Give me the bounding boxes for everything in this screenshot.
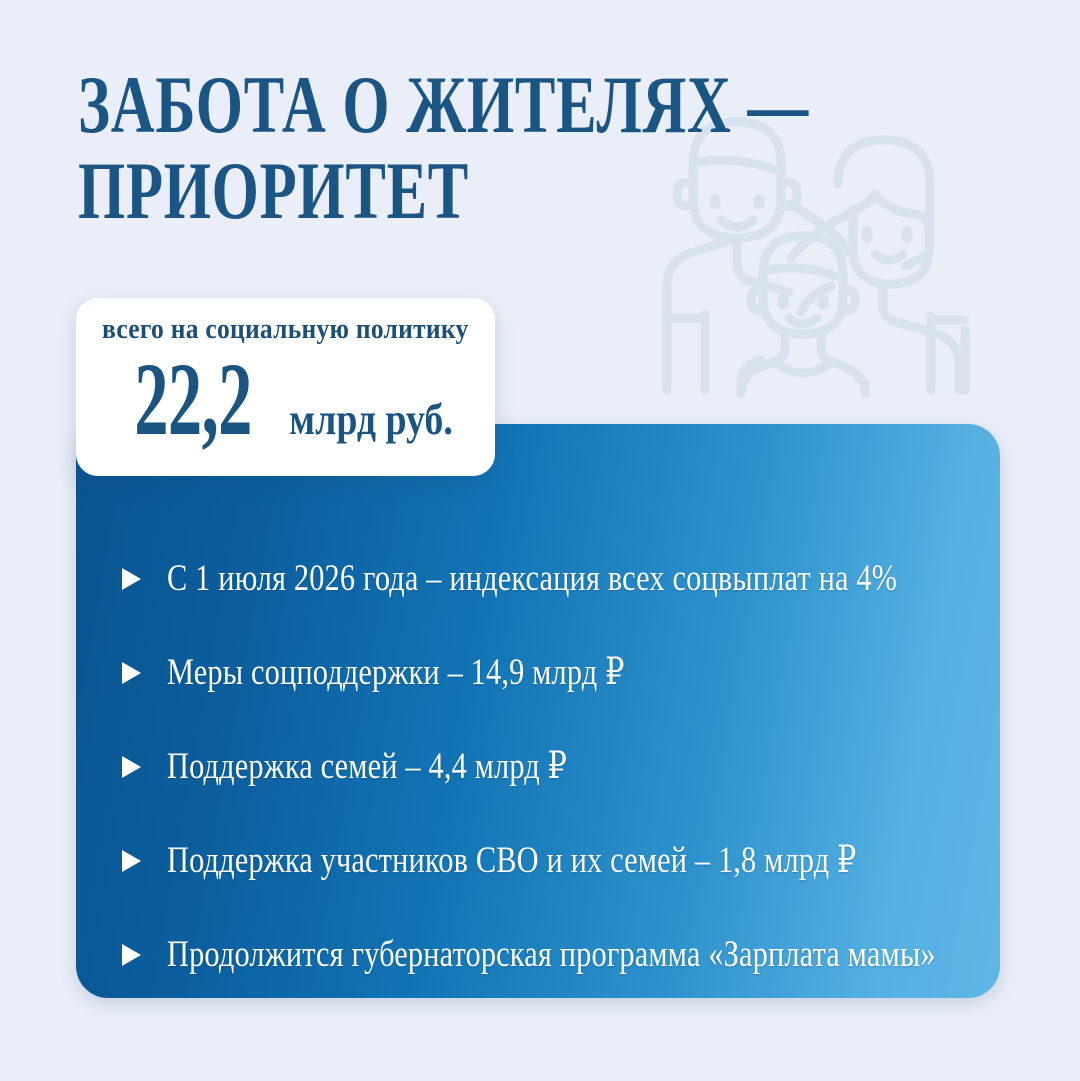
badge-caption: всего на социальную политику xyxy=(102,312,469,346)
total-amount-badge: всего на социальную политику 22,2 млрд р… xyxy=(76,298,495,476)
child-neck-right xyxy=(821,334,865,394)
triangle-right-icon xyxy=(122,756,141,778)
measures-list: С 1 июля 2026 года – индексация всех соц… xyxy=(100,532,976,1002)
list-item: С 1 июля 2026 года – индексация всех соц… xyxy=(100,532,976,626)
child-collar xyxy=(775,362,831,373)
page-title: ЗАБОТА О ЖИТЕЛЯХ — ПРИОРИТЕТ xyxy=(78,62,838,234)
child-hair xyxy=(767,268,835,276)
triangle-right-icon xyxy=(122,568,141,590)
triangle-right-icon xyxy=(122,662,141,684)
father-neck xyxy=(737,238,789,292)
mother-shoulder-left xyxy=(801,286,831,312)
list-item: Поддержка участников СВО и их семей – 1,… xyxy=(100,814,976,908)
list-item-label: Поддержка семей – 4,4 млрд ₽ xyxy=(167,747,567,787)
list-item-label: Продолжится губернаторская программа «За… xyxy=(167,935,936,975)
child-ear-right xyxy=(847,290,855,310)
mother-face xyxy=(853,194,929,284)
father-body-left xyxy=(667,239,735,390)
child-ear-left xyxy=(751,290,759,310)
child-mouth xyxy=(789,318,817,324)
child-shoulder-left xyxy=(741,360,761,390)
infographic-poster: ЗАБОТА О ЖИТЕЛЯХ — ПРИОРИТЕТ С 1 июля 20… xyxy=(0,0,1080,1081)
badge-unit: млрд руб. xyxy=(290,398,454,442)
list-item: Поддержка семей – 4,4 млрд ₽ xyxy=(100,720,976,814)
list-item: Продолжится губернаторская программа «За… xyxy=(100,908,976,1002)
child-head xyxy=(763,236,843,334)
mother-hair-outer xyxy=(838,140,930,266)
child-neck-left xyxy=(741,334,785,394)
badge-value: 22,2 xyxy=(135,348,252,452)
triangle-right-icon xyxy=(122,944,141,966)
badge-amount-row: 22,2 млрд руб. xyxy=(104,348,466,452)
list-item: Меры соцподдержки – 14,9 млрд ₽ xyxy=(100,626,976,720)
title-line-2: ПРИОРИТЕТ xyxy=(78,148,640,234)
triangle-right-icon xyxy=(122,850,141,872)
title-line-1: ЗАБОТА О ЖИТЕЛЯХ — xyxy=(78,62,640,148)
measures-panel: С 1 июля 2026 года – индексация всех соц… xyxy=(76,424,1000,998)
list-item-label: С 1 июля 2026 года – индексация всех соц… xyxy=(167,559,897,599)
mother-mouth xyxy=(875,254,903,260)
list-item-label: Меры соцподдержки – 14,9 млрд ₽ xyxy=(167,653,625,693)
list-item-label: Поддержка участников СВО и их семей – 1,… xyxy=(167,841,857,881)
mother-neck-shoulder xyxy=(883,284,959,390)
